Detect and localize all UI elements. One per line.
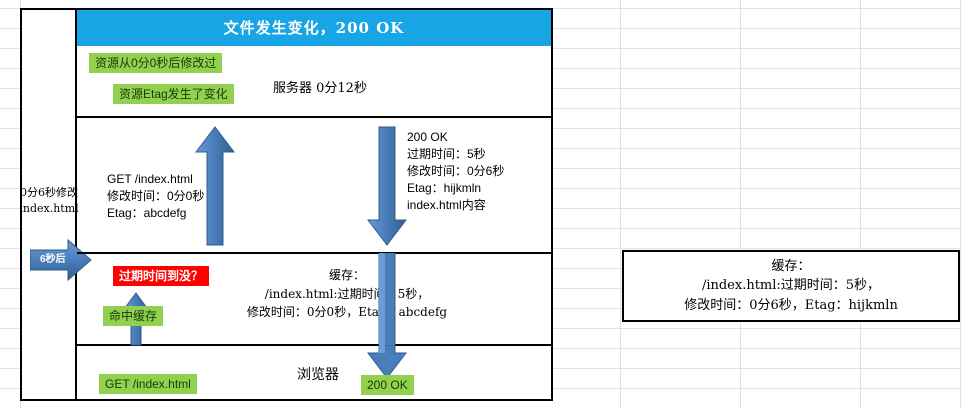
title-bar: 文件发生变化，200 OK	[77, 10, 551, 46]
server-label: 服务器 0分12秒	[273, 80, 367, 98]
note-resource-modified: 资源从0分0秒后修改过	[89, 53, 222, 73]
request-response-row: GET /index.html 修改时间：0分0秒 Etag：abcdefg	[77, 118, 551, 254]
cache-row: 过期时间到没？ 命中缓存 缓存： /index.h	[77, 254, 551, 346]
updated-cache-line-0: 缓存：	[684, 257, 898, 277]
updated-cache-box: 缓存： /index.html:过期时间：5秒， 修改时间：0分6秒，Etag：…	[622, 250, 960, 322]
updated-cache-line-1: /index.html:过期时间：5秒，	[684, 276, 898, 296]
response-arrow-head	[367, 345, 407, 379]
browser-cache-contents: 缓存： /index.html:过期时间：5秒， 修改时间：0分0秒，Etag：…	[217, 266, 477, 322]
browser-response-ok: 200 OK	[361, 375, 414, 395]
request-line-method: GET /index.html	[107, 171, 204, 188]
server-row: 资源从0分0秒后修改过 资源Etag发生了变化 服务器 0分12秒	[77, 46, 551, 118]
browser-get-request: GET /index.html	[99, 374, 197, 394]
browser-cache-line-2: 修改时间：0分0秒，Etag：abcdefg	[217, 303, 477, 322]
response-line-status: 200 OK	[407, 129, 504, 146]
title-bar-text: 文件发生变化，200 OK	[77, 10, 551, 46]
file-modified-caption: 0分6秒修改 index.html	[19, 185, 79, 217]
response-line-modified: 修改时间：0分6秒	[407, 163, 504, 180]
cache-hit-label: 命中缓存	[103, 306, 163, 326]
file-modified-caption-line1: 0分6秒修改	[19, 185, 79, 201]
response-line-expires: 过期时间：5秒	[407, 146, 504, 163]
note-etag-changed: 资源Etag发生了变化	[113, 84, 234, 104]
updated-cache-lines: 缓存： /index.html:过期时间：5秒， 修改时间：0分6秒，Etag：…	[684, 257, 898, 316]
request-line-etag: Etag：abcdefg	[107, 205, 204, 222]
response-arrow	[367, 126, 407, 246]
browser-cache-line-0: 缓存：	[217, 266, 477, 285]
sequence-diagram-container: 0分6秒修改 index.html 6秒后 文件发生变化，200 OK	[20, 8, 553, 401]
browser-cache-line-1: /index.html:过期时间：5秒，	[217, 285, 477, 304]
browser-label: 浏览器	[297, 366, 339, 386]
diagram-rows: 文件发生变化，200 OK 资源从0分0秒后修改过 资源Etag发生了变化 服务…	[77, 10, 551, 399]
response-line-body: index.html内容	[407, 197, 504, 214]
expiry-check-label: 过期时间到没？	[113, 266, 209, 286]
request-line-modified: 修改时间：0分0秒	[107, 188, 204, 205]
response-arrow-tail	[367, 253, 407, 346]
updated-cache-line-2: 修改时间：0分6秒，Etag：hijkmln	[684, 296, 898, 316]
left-timeline-column: 0分6秒修改 index.html 6秒后	[22, 10, 77, 399]
response-line-etag: Etag：hijkmln	[407, 180, 504, 197]
response-text-block: 200 OK 过期时间：5秒 修改时间：0分6秒 Etag：hijkmln in…	[407, 129, 504, 214]
browser-row: GET /index.html 浏览器 200 OK	[77, 346, 551, 401]
request-text-block: GET /index.html 修改时间：0分0秒 Etag：abcdefg	[107, 171, 204, 222]
file-modified-caption-line2: index.html	[19, 201, 79, 217]
